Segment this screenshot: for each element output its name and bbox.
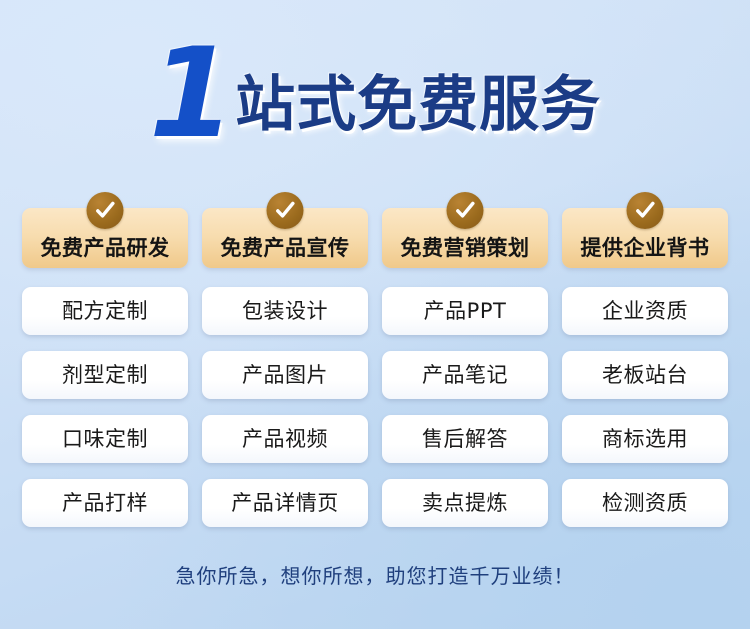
service-item[interactable]: 商标选用 [562, 415, 728, 463]
service-column-1: 免费产品研发 配方定制 剂型定制 口味定制 产品打样 [22, 192, 188, 527]
service-item[interactable]: 老板站台 [562, 351, 728, 399]
service-item-label: 配方定制 [62, 301, 148, 322]
header-card-label: 免费产品宣传 [221, 238, 350, 259]
service-item[interactable]: 检测资质 [562, 479, 728, 527]
title-text: 站式免费服务 [235, 75, 601, 135]
service-item-label: 商标选用 [602, 429, 688, 450]
service-item[interactable]: 产品视频 [202, 415, 368, 463]
service-item[interactable]: 卖点提炼 [382, 479, 548, 527]
service-item[interactable]: 产品图片 [202, 351, 368, 399]
service-item-label: 企业资质 [602, 301, 688, 322]
service-item-label: 产品笔记 [422, 365, 508, 386]
column-header-4: 提供企业背书 [562, 192, 728, 268]
service-item[interactable]: 产品笔记 [382, 351, 548, 399]
service-column-2: 免费产品宣传 包装设计 产品图片 产品视频 产品详情页 [202, 192, 368, 527]
service-item[interactable]: 包装设计 [202, 287, 368, 335]
header-card-label: 提供企业背书 [581, 238, 710, 259]
service-column-3: 免费营销策划 产品PPT 产品笔记 售后解答 卖点提炼 [382, 192, 548, 527]
check-circle-icon [447, 192, 484, 229]
service-item-label: 售后解答 [422, 429, 508, 450]
service-item-label: 产品打样 [62, 493, 148, 514]
check-circle-icon [267, 192, 304, 229]
service-item-label: 卖点提炼 [422, 493, 508, 514]
check-circle-icon [87, 192, 124, 229]
service-item[interactable]: 企业资质 [562, 287, 728, 335]
service-column-4: 提供企业背书 企业资质 老板站台 商标选用 检测资质 [562, 192, 728, 527]
service-item-label: 剂型定制 [62, 365, 148, 386]
service-item-label: 包装设计 [242, 301, 328, 322]
column-header-1: 免费产品研发 [22, 192, 188, 268]
promo-banner: 1 站式免费服务 免费产品研发 配方定制 剂型定制 [0, 0, 750, 629]
column-header-2: 免费产品宣传 [202, 192, 368, 268]
service-grid: 免费产品研发 配方定制 剂型定制 口味定制 产品打样 [22, 192, 728, 527]
page-title: 1 站式免费服务 [0, 22, 750, 172]
service-item[interactable]: 配方定制 [22, 287, 188, 335]
service-item[interactable]: 产品详情页 [202, 479, 368, 527]
service-item-label: 产品详情页 [231, 493, 339, 514]
service-item-label: 产品视频 [242, 429, 328, 450]
column-header-3: 免费营销策划 [382, 192, 548, 268]
service-item[interactable]: 产品PPT [382, 287, 548, 335]
check-circle-icon [627, 192, 664, 229]
footer-slogan: 急你所急，想你所想，助您打造千万业绩！ [0, 560, 750, 589]
service-item-label: 产品图片 [242, 365, 328, 386]
service-item-label: 检测资质 [602, 493, 688, 514]
header-card-label: 免费营销策划 [401, 238, 530, 259]
service-item[interactable]: 售后解答 [382, 415, 548, 463]
header-card-label: 免费产品研发 [41, 238, 170, 259]
service-item[interactable]: 口味定制 [22, 415, 188, 463]
service-item-label: 口味定制 [62, 429, 148, 450]
title-number: 1 [149, 32, 233, 156]
service-item[interactable]: 剂型定制 [22, 351, 188, 399]
service-item-label: 老板站台 [602, 365, 688, 386]
service-item-label: 产品PPT [424, 301, 507, 322]
service-item[interactable]: 产品打样 [22, 479, 188, 527]
